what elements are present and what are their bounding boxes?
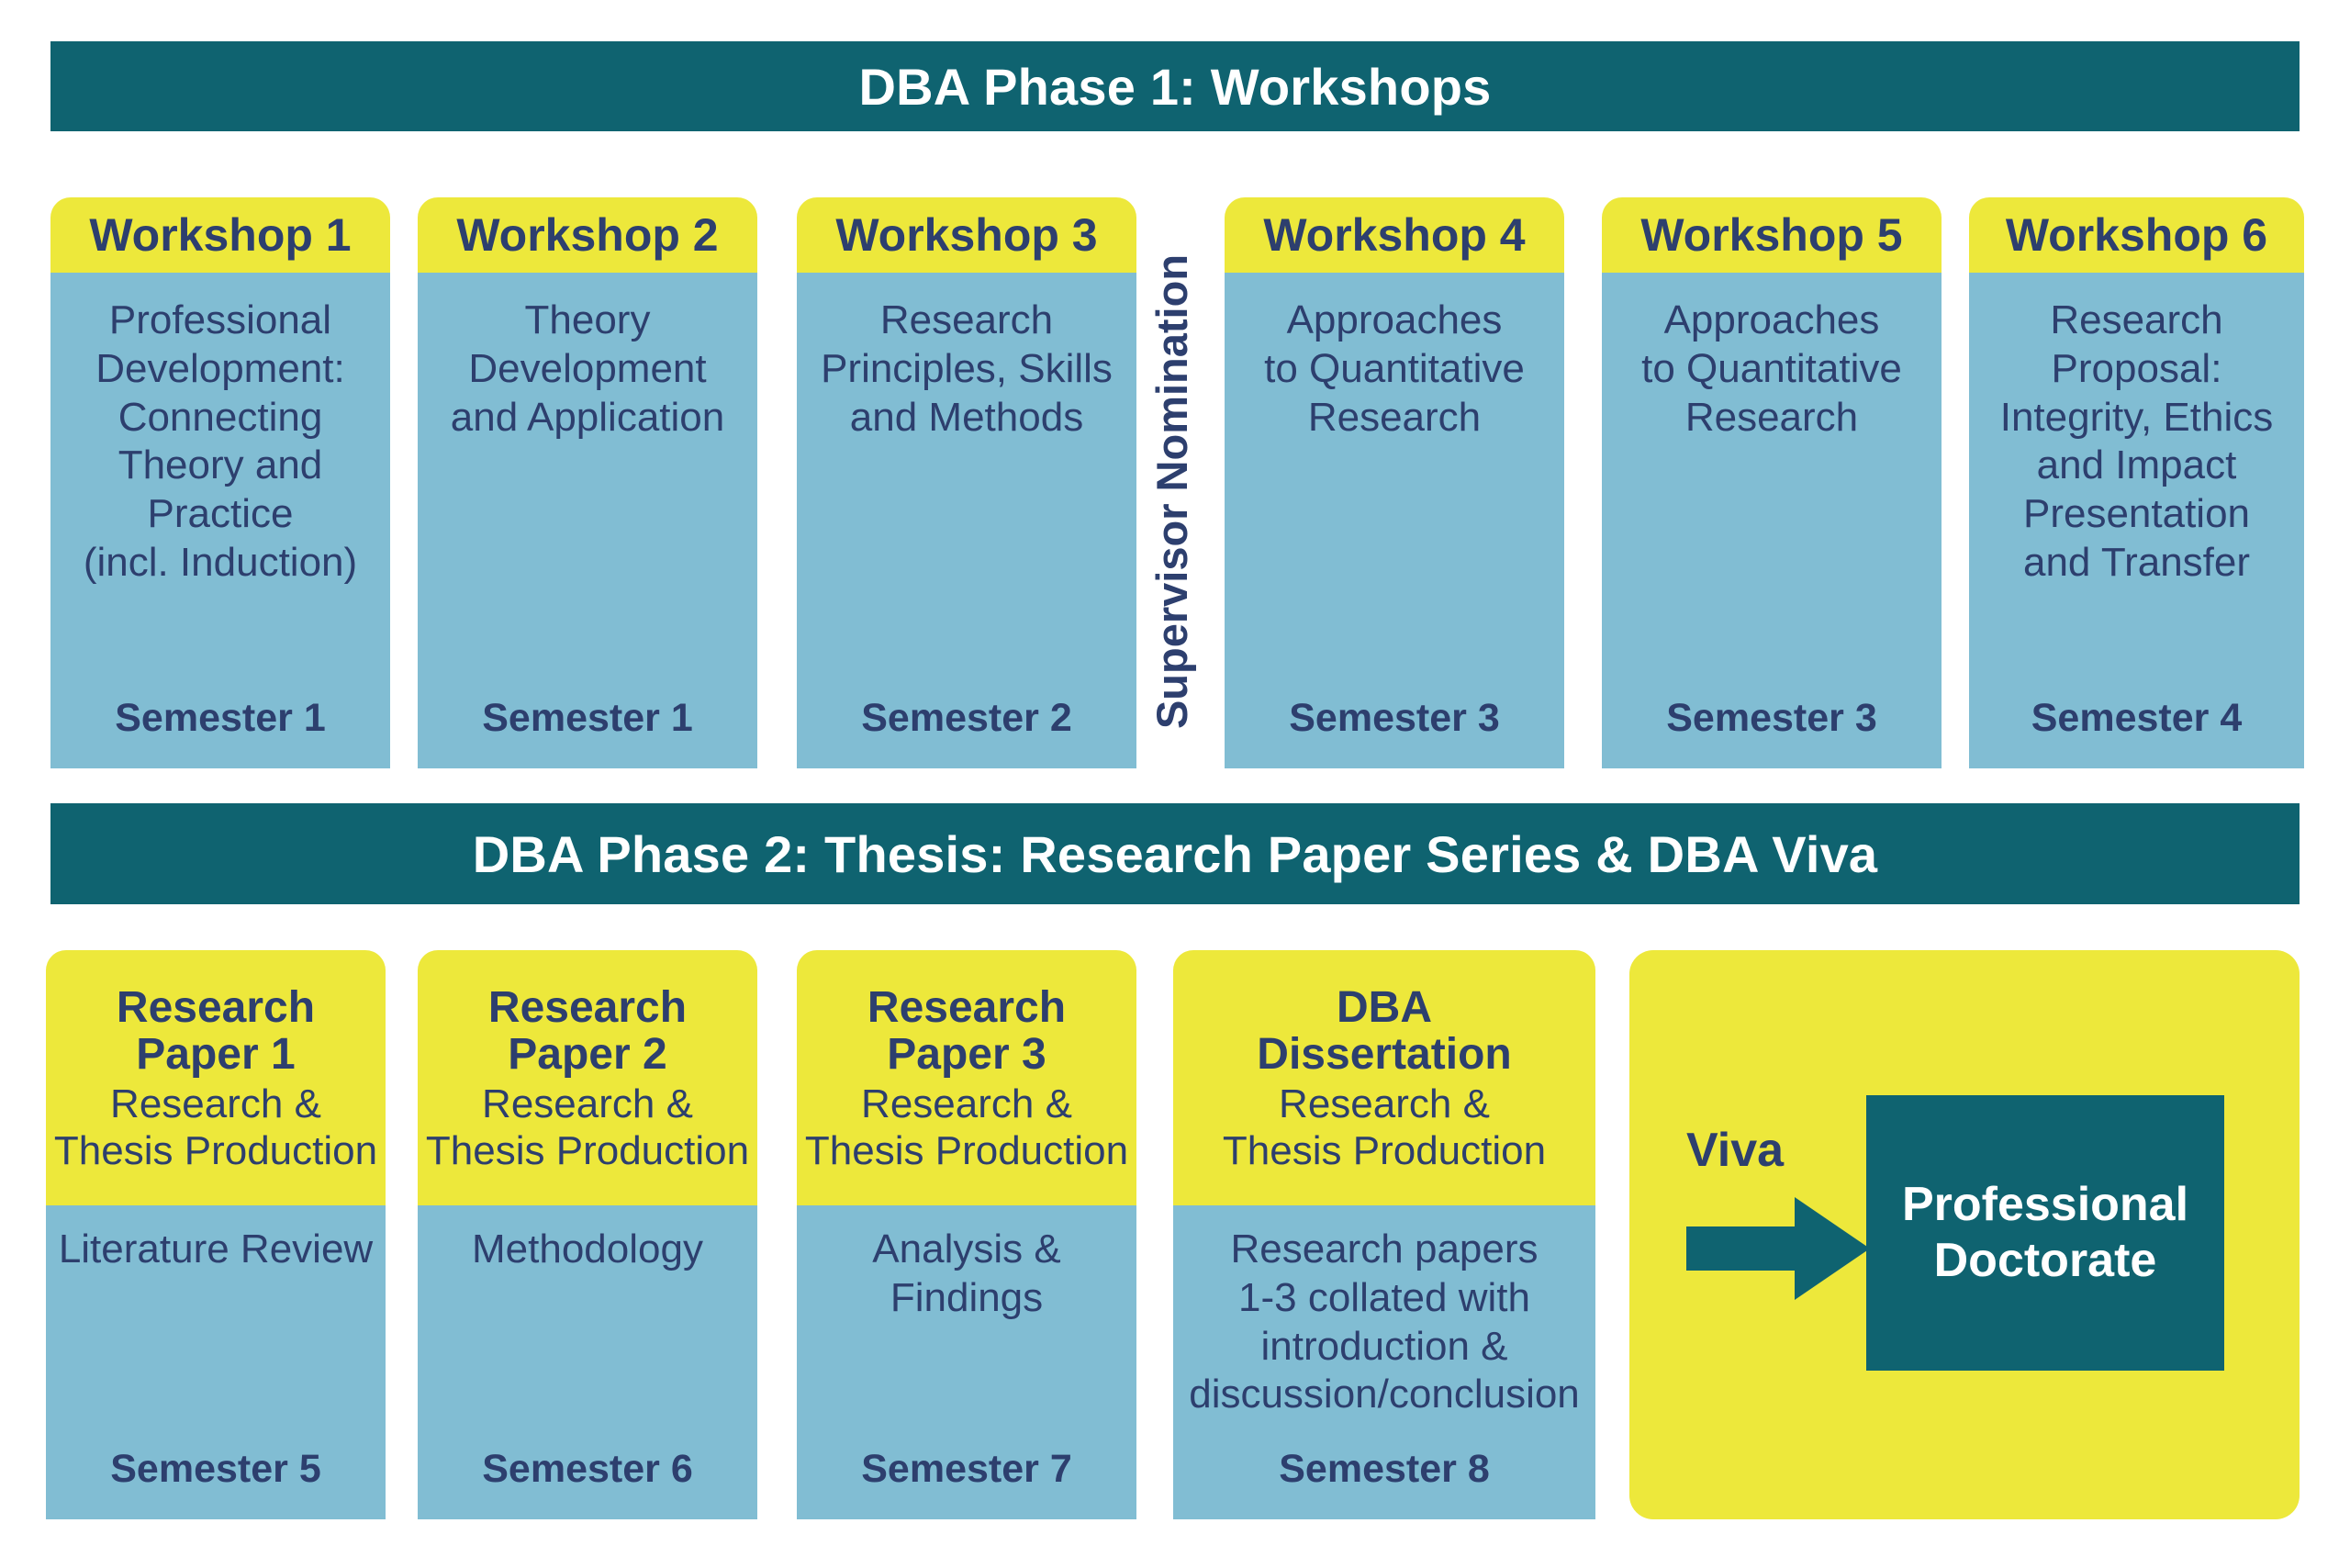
workshop-card-1-description: Professional Development: Connecting The… [62, 297, 379, 588]
research-paper-card-2-head: Research Paper 2 Research & Thesis Produ… [418, 950, 757, 1205]
research-paper-card-3-subtitle: Research & Thesis Production [805, 1081, 1128, 1174]
workshop-card-5-title: Workshop 5 [1602, 197, 1942, 273]
workshop-card-2[interactable]: Workshop 2 Theory Development and Applic… [418, 197, 757, 768]
workshop-card-6-title: Workshop 6 [1969, 197, 2304, 273]
professional-doctorate-box: Professional Doctorate [1866, 1095, 2224, 1371]
research-paper-card-2-body: Methodology Semester 6 [418, 1205, 757, 1519]
research-paper-card-2-description: Methodology [427, 1226, 748, 1274]
workshop-card-3-semester: Semester 2 [808, 696, 1125, 745]
supervisor-nomination-text: Supervisor Nomination [1147, 253, 1198, 728]
research-paper-card-3-description: Analysis & Findings [806, 1226, 1127, 1323]
dba-dissertation-head: DBA Dissertation Research & Thesis Produ… [1173, 950, 1595, 1205]
research-paper-card-2[interactable]: Research Paper 2 Research & Thesis Produ… [418, 950, 757, 1519]
dba-dissertation-body: Research papers 1-3 collated with introd… [1173, 1205, 1595, 1519]
dba-programme-diagram: DBA Phase 1: Workshops Workshop 1 Profes… [0, 0, 2350, 1568]
research-paper-card-1-description: Literature Review [55, 1226, 376, 1274]
workshop-card-2-description: Theory Development and Application [429, 297, 746, 442]
dba-dissertation-subtitle: Research & Thesis Production [1223, 1081, 1546, 1174]
workshop-card-4-title: Workshop 4 [1225, 197, 1564, 273]
viva-label: Viva [1686, 1123, 1784, 1178]
professional-doctorate-label: Professional Doctorate [1889, 1177, 2201, 1290]
research-paper-card-1-semester: Semester 5 [55, 1447, 376, 1495]
workshop-card-6-semester: Semester 4 [1980, 696, 2293, 745]
research-paper-card-1-title: Research Paper 1 [117, 985, 315, 1079]
right-arrow-icon [1686, 1193, 1870, 1304]
research-paper-card-1-head: Research Paper 1 Research & Thesis Produ… [46, 950, 386, 1205]
workshop-card-5-description: Approaches to Quantitative Research [1613, 297, 1930, 442]
dba-dissertation-card[interactable]: DBA Dissertation Research & Thesis Produ… [1173, 950, 1595, 1519]
workshop-card-1[interactable]: Workshop 1 Professional Development: Con… [50, 197, 390, 768]
workshop-card-5-body: Approaches to Quantitative Research Seme… [1602, 273, 1942, 768]
workshop-card-4[interactable]: Workshop 4 Approaches to Quantitative Re… [1225, 197, 1564, 768]
research-paper-card-3[interactable]: Research Paper 3 Research & Thesis Produ… [797, 950, 1136, 1519]
workshop-card-4-description: Approaches to Quantitative Research [1236, 297, 1553, 442]
research-paper-card-2-title: Research Paper 2 [488, 985, 687, 1079]
workshop-card-2-body: Theory Development and Application Semes… [418, 273, 757, 768]
research-paper-card-1-subtitle: Research & Thesis Production [54, 1081, 377, 1174]
dba-dissertation-title: DBA Dissertation [1257, 985, 1511, 1079]
research-paper-card-3-semester: Semester 7 [806, 1447, 1127, 1495]
workshop-card-6[interactable]: Workshop 6 Research Proposal: Integrity,… [1969, 197, 2304, 768]
viva-outcome-panel[interactable]: Viva Professional Doctorate [1629, 950, 2300, 1519]
workshop-card-1-semester: Semester 1 [62, 696, 379, 745]
dba-dissertation-description: Research papers 1-3 collated with introd… [1182, 1226, 1586, 1419]
workshop-card-3-body: Research Principles, Skills and Methods … [797, 273, 1136, 768]
supervisor-nomination-label: Supervisor Nomination [1146, 197, 1199, 785]
phase2-banner: DBA Phase 2: Thesis: Research Paper Seri… [50, 803, 2300, 904]
phase1-banner: DBA Phase 1: Workshops [50, 41, 2300, 131]
workshop-card-6-description: Research Proposal: Integrity, Ethics and… [1980, 297, 2293, 588]
workshop-card-3-description: Research Principles, Skills and Methods [808, 297, 1125, 442]
workshop-card-2-semester: Semester 1 [429, 696, 746, 745]
workshop-card-2-title: Workshop 2 [418, 197, 757, 273]
research-paper-card-1[interactable]: Research Paper 1 Research & Thesis Produ… [46, 950, 386, 1519]
workshop-card-5-semester: Semester 3 [1613, 696, 1930, 745]
research-paper-card-2-subtitle: Research & Thesis Production [426, 1081, 749, 1174]
workshop-card-1-body: Professional Development: Connecting The… [50, 273, 390, 768]
research-paper-card-1-body: Literature Review Semester 5 [46, 1205, 386, 1519]
research-paper-card-3-head: Research Paper 3 Research & Thesis Produ… [797, 950, 1136, 1205]
research-paper-card-3-title: Research Paper 3 [867, 985, 1066, 1079]
workshop-card-4-body: Approaches to Quantitative Research Seme… [1225, 273, 1564, 768]
dba-dissertation-semester: Semester 8 [1182, 1447, 1586, 1495]
workshop-card-3-title: Workshop 3 [797, 197, 1136, 273]
workshop-card-5[interactable]: Workshop 5 Approaches to Quantitative Re… [1602, 197, 1942, 768]
research-paper-card-3-body: Analysis & Findings Semester 7 [797, 1205, 1136, 1519]
research-paper-card-2-semester: Semester 6 [427, 1447, 748, 1495]
workshop-card-1-title: Workshop 1 [50, 197, 390, 273]
workshop-card-6-body: Research Proposal: Integrity, Ethics and… [1969, 273, 2304, 768]
workshop-card-4-semester: Semester 3 [1236, 696, 1553, 745]
workshop-card-3[interactable]: Workshop 3 Research Principles, Skills a… [797, 197, 1136, 768]
